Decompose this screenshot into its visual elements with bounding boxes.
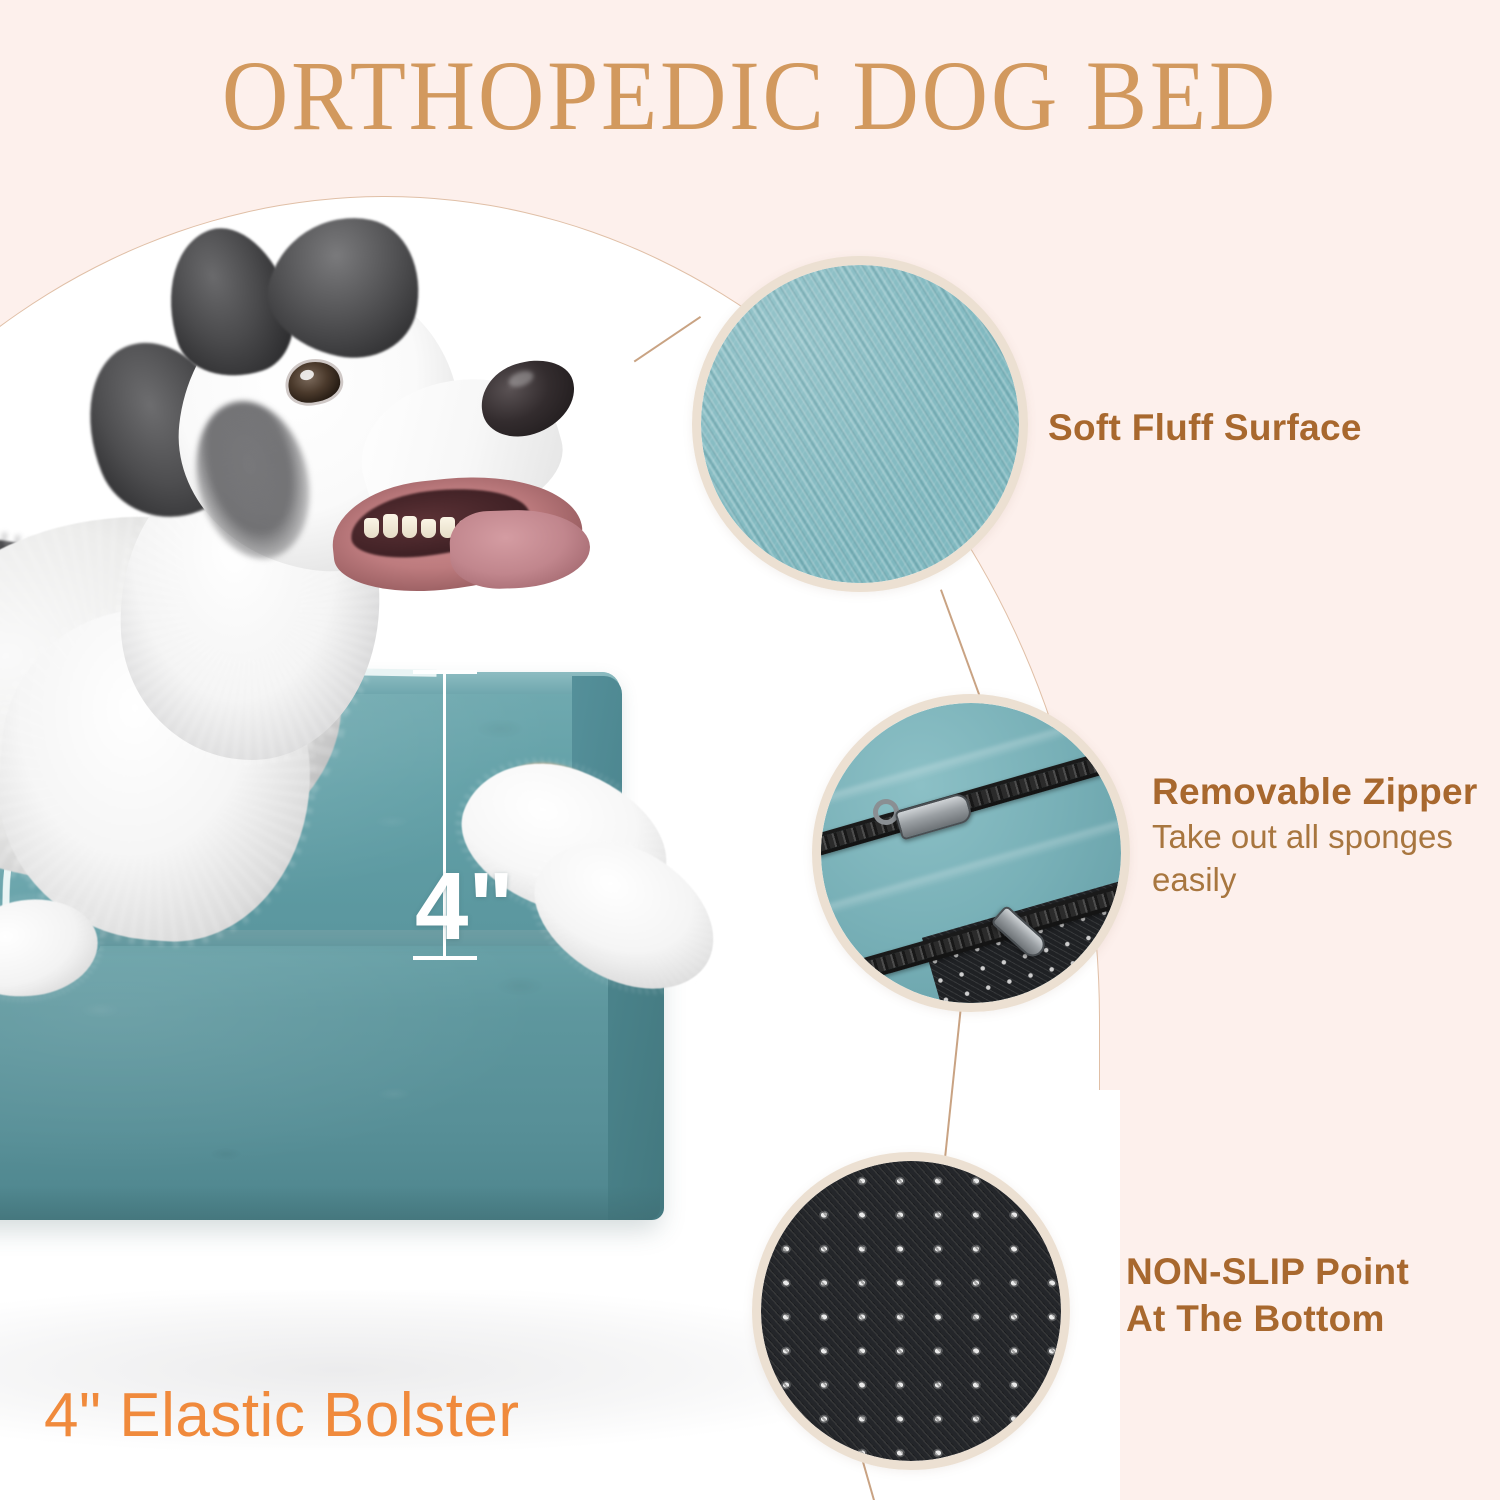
dimension-label: 4"	[415, 859, 514, 955]
dog-photo-subject	[0, 210, 700, 1000]
fluff-fabric-swatch-icon[interactable]	[692, 256, 1028, 592]
feature-title-nonslip-line1: NON-SLIP Point	[1126, 1248, 1409, 1295]
feature-title-zipper: Removable Zipper	[1152, 768, 1482, 815]
feature-title-nonslip-line2: At The Bottom	[1126, 1295, 1409, 1342]
zipper-closure-swatch-icon[interactable]	[812, 694, 1130, 1012]
feature-title-fluff: Soft Fluff Surface	[1048, 404, 1362, 451]
page-title: ORTHOPEDIC DOG BED	[60, 44, 1440, 148]
product-infographic: ORTHOPEDIC DOG BED	[0, 0, 1500, 1500]
feature-label-fluff: Soft Fluff Surface	[1048, 404, 1362, 451]
feature-subtitle-zipper: Take out all sponges easily	[1152, 815, 1482, 901]
bed-base-bottom-shade	[0, 1186, 660, 1220]
feature-label-zipper: Removable Zipper Take out all sponges ea…	[1152, 768, 1482, 901]
non-slip-dotted-fabric-swatch-icon[interactable]	[752, 1152, 1070, 1470]
bolster-caption: 4" Elastic Bolster	[44, 1380, 520, 1451]
feature-label-nonslip: NON-SLIP Point At The Bottom	[1126, 1248, 1409, 1342]
